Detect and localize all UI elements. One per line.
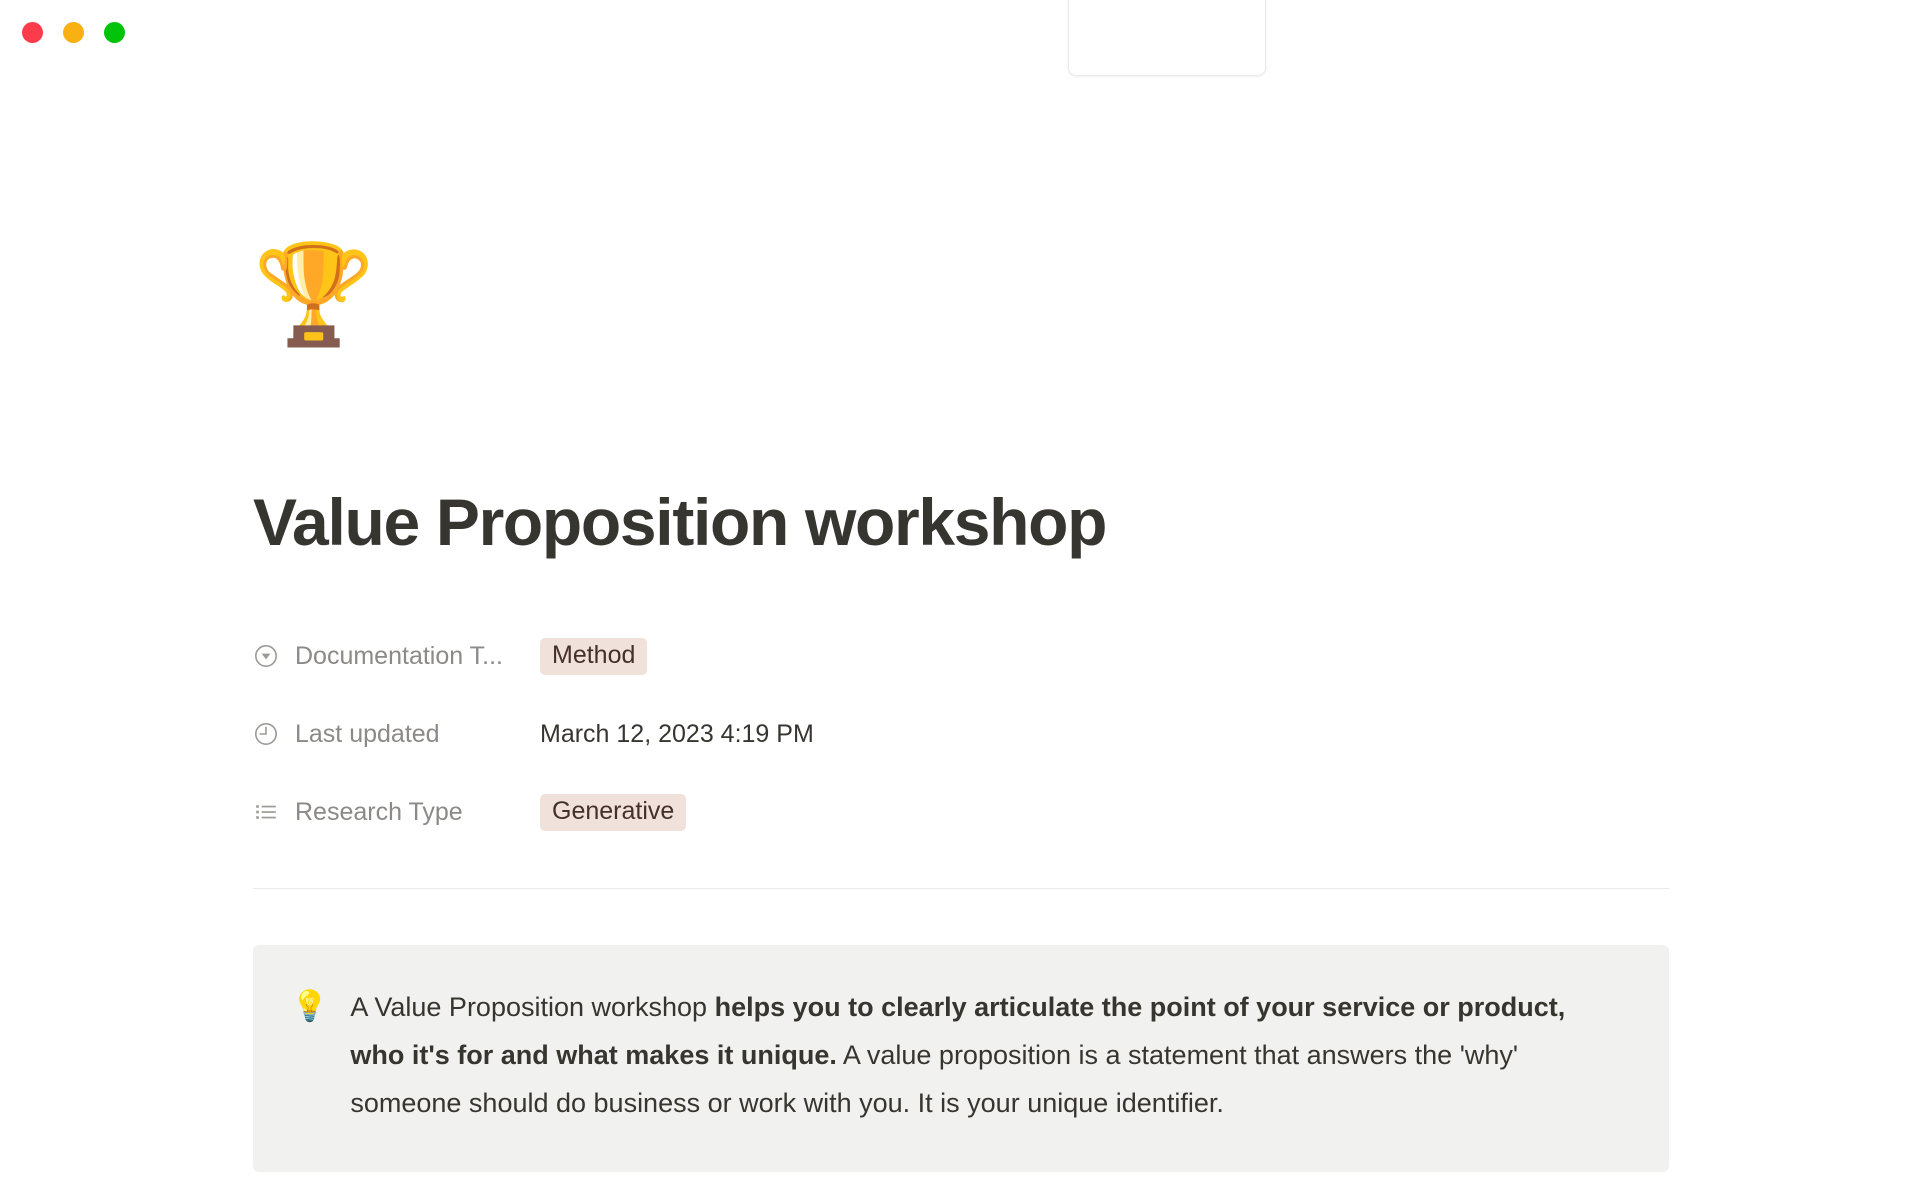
callout-text-lead: A Value Proposition workshop [350, 992, 714, 1022]
property-label-last-updated[interactable]: Last updated [253, 720, 540, 749]
property-row-research-type: Research Type Generative [253, 790, 1669, 834]
window-title-bar [0, 0, 1920, 72]
lightbulb-emoji: 💡 [291, 983, 328, 1031]
property-label-text: Last updated [295, 720, 440, 749]
property-value-documentation-type[interactable]: Method [540, 638, 647, 675]
floating-toolbar-partial[interactable] [1068, 0, 1266, 76]
section-divider [253, 888, 1669, 889]
maximize-window-button[interactable] [104, 22, 125, 43]
property-row-last-updated: Last updated March 12, 2023 4:19 PM [253, 712, 1669, 756]
property-row-documentation-type: Documentation T... Method [253, 634, 1669, 678]
property-value-research-type[interactable]: Generative [540, 794, 686, 831]
property-label-text: Documentation T... [295, 642, 503, 671]
page-title[interactable]: Value Proposition workshop [253, 486, 1669, 559]
status-badge-method[interactable]: Method [540, 638, 647, 675]
property-label-documentation-type[interactable]: Documentation T... [253, 642, 540, 671]
traffic-light-controls [22, 22, 125, 43]
property-value-last-updated: March 12, 2023 4:19 PM [540, 720, 814, 749]
close-window-button[interactable] [22, 22, 43, 43]
status-badge-generative[interactable]: Generative [540, 794, 686, 831]
callout-block[interactable]: 💡 A Value Proposition workshop helps you… [253, 945, 1669, 1172]
list-icon [253, 799, 279, 825]
callout-text: A Value Proposition workshop helps you t… [350, 983, 1617, 1127]
property-label-research-type[interactable]: Research Type [253, 798, 540, 827]
clock-icon [253, 721, 279, 747]
page-properties: Documentation T... Method Last updated [253, 634, 1669, 834]
trophy-emoji[interactable]: 🏆 [253, 246, 375, 344]
property-label-text: Research Type [295, 798, 463, 827]
minimize-window-button[interactable] [63, 22, 84, 43]
select-icon [253, 643, 279, 669]
